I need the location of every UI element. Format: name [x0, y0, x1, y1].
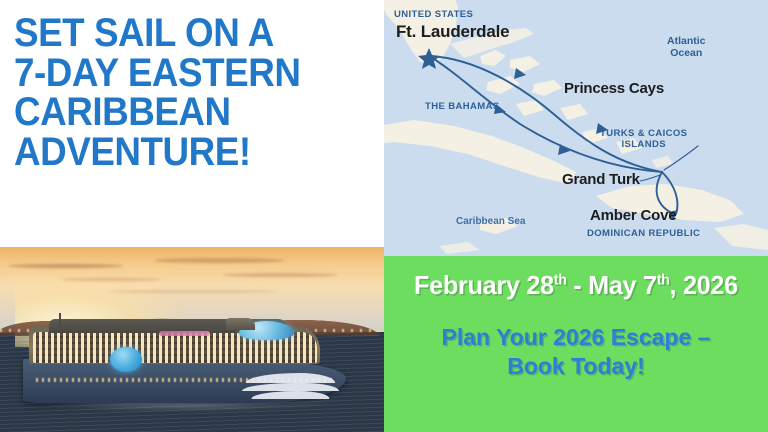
- map-label-atlantic-ocean: Atlantic Ocean: [667, 35, 706, 59]
- date-separator: -: [567, 270, 589, 300]
- headline-line-1: SET SAIL ON A: [14, 14, 347, 54]
- map-label-caribbean-sea: Caribbean Sea: [456, 216, 525, 227]
- map-label-the-bahamas: THE BAHAMAS: [425, 101, 500, 112]
- promo-poster: SET SAIL ON A 7-DAY EASTERN CARIBBEAN AD…: [0, 0, 768, 432]
- route-return: [429, 56, 662, 172]
- cta-message-line2: Book Today!: [442, 352, 711, 381]
- sailing-dates: February 28th - May 7th, 2026: [414, 270, 738, 301]
- route-outbound: [429, 56, 662, 172]
- map-label-united-states: UNITED STATES: [394, 9, 473, 20]
- date-end-day: 7: [643, 270, 657, 300]
- page-title: SET SAIL ON A 7-DAY EASTERN CARIBBEAN AD…: [14, 14, 347, 172]
- map-label-amber-cove: Amber Cove: [590, 207, 676, 224]
- cruise-route-map: UNITED STATES Ft. Lauderdale THE BAHAMAS…: [384, 0, 768, 256]
- date-start-day: 28: [526, 270, 553, 300]
- date-end-month: May: [588, 270, 643, 300]
- date-start-suffix: th: [554, 272, 567, 288]
- ship-hull-swoosh: [242, 371, 339, 400]
- map-label-princess-cays: Princess Cays: [564, 80, 664, 97]
- ship-illustration: [23, 323, 346, 408]
- cloud-band: [8, 264, 123, 268]
- map-label-turks-caicos: TURKS & CAICOS ISLANDS: [600, 128, 687, 150]
- date-year: , 2026: [670, 270, 738, 300]
- cta-message[interactable]: Plan Your 2026 Escape – Book Today!: [442, 323, 711, 382]
- map-label-dominican-republic: DOMINICAN REPUBLIC: [587, 228, 700, 239]
- date-start-month: February: [414, 270, 526, 300]
- headline-line-2: 7-DAY EASTERN: [14, 54, 347, 94]
- ship-mast: [59, 313, 61, 327]
- cloud-band: [108, 290, 277, 293]
- cta-message-line1: Plan Your 2026 Escape –: [442, 323, 711, 352]
- cruise-ship-photo: [0, 247, 384, 432]
- headline-panel: SET SAIL ON A 7-DAY EASTERN CARIBBEAN AD…: [0, 0, 384, 248]
- cloud-band: [223, 273, 338, 277]
- map-label-atlantic-line2: Ocean: [670, 47, 702, 59]
- cta-panel: February 28th - May 7th, 2026 Plan Your …: [384, 256, 768, 432]
- ship-funnel: [226, 318, 255, 330]
- map-label-grand-turk: Grand Turk: [562, 171, 640, 188]
- headline-line-3: CARIBBEAN: [14, 93, 347, 133]
- map-label-atlantic-line1: Atlantic: [667, 35, 706, 47]
- ship-pool-deck: [159, 331, 211, 336]
- date-end-suffix: th: [657, 272, 670, 288]
- map-label-turks-caicos-line1: TURKS & CAICOS: [600, 128, 687, 139]
- headline-line-4: ADVENTURE!: [14, 133, 347, 173]
- map-label-ft-lauderdale: Ft. Lauderdale: [396, 22, 509, 42]
- leader-grandturk: [640, 175, 660, 181]
- map-label-turks-caicos-line2: ISLANDS: [621, 139, 666, 150]
